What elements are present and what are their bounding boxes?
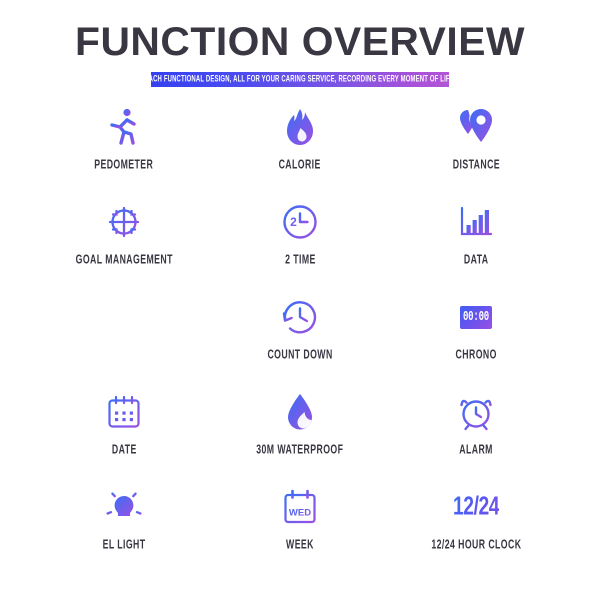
chrono-screen: 00:00 <box>460 306 492 329</box>
feature-label: 2 TIME <box>285 251 316 267</box>
feature-label: ALARM <box>459 441 493 457</box>
feature-item-week[interactable]: WED WEEK <box>212 484 388 579</box>
calendar-icon <box>101 389 147 435</box>
running-person-icon <box>101 104 147 150</box>
bar-chart-icon <box>453 199 499 245</box>
feature-item-calorie[interactable]: CALORIE <box>212 104 388 199</box>
hour-format-text: 12/24 <box>453 492 499 522</box>
feature-item-count-down[interactable]: COUNT DOWN <box>212 294 388 389</box>
flame-icon <box>277 104 323 150</box>
feature-item-alarm[interactable]: ALARM <box>388 389 564 484</box>
dual-time-clock-icon: 2 <box>277 199 323 245</box>
feature-label: 12/24 HOUR CLOCK <box>431 536 521 552</box>
feature-item-hour-clock[interactable]: 12/24 12/24 HOUR CLOCK <box>388 484 564 579</box>
feature-label: PEDOMETER <box>95 156 154 172</box>
feature-item-distance[interactable]: DISTANCE <box>388 104 564 199</box>
alarm-clock-icon <box>453 389 499 435</box>
feature-label: 30M WATERPROOF <box>256 441 343 457</box>
feature-item-el-light[interactable]: EL LIGHT <box>36 484 212 579</box>
feature-label: DISTANCE <box>452 156 499 172</box>
feature-label: GOAL MANAGEMENT <box>75 251 172 267</box>
function-overview-page: FUNCTION OVERVIEW EACH FUNCTIONAL DESIGN… <box>0 0 600 600</box>
feature-label: CALORIE <box>279 156 321 172</box>
feature-label: DATE <box>112 441 137 457</box>
weekday-calendar-icon: WED <box>277 484 323 530</box>
page-header: FUNCTION OVERVIEW EACH FUNCTIONAL DESIGN… <box>0 0 600 87</box>
subtitle-text: EACH FUNCTIONAL DESIGN, ALL FOR YOUR CAR… <box>144 74 455 84</box>
chrono-digits: 00:00 <box>463 310 489 325</box>
feature-label: WEEK <box>286 536 314 552</box>
weekday-abbrev: WED <box>289 508 311 519</box>
feature-item-waterproof[interactable]: 30M WATERPROOF <box>212 389 388 484</box>
feature-item-2-time[interactable]: 2 2 TIME <box>212 199 388 294</box>
countdown-clock-icon <box>277 294 323 340</box>
feature-item-data[interactable]: DATA <box>388 199 564 294</box>
digital-display-icon: 00:00 <box>453 294 499 340</box>
feature-item-goal-management[interactable]: GOAL MANAGEMENT <box>36 199 212 294</box>
feature-label: COUNT DOWN <box>267 346 332 362</box>
location-pin-icon <box>453 104 499 150</box>
lightbulb-icon <box>101 484 147 530</box>
feature-label: CHRONO <box>455 346 496 362</box>
page-title: FUNCTION OVERVIEW <box>0 22 600 62</box>
target-crosshair-icon <box>101 199 147 245</box>
feature-label: EL LIGHT <box>103 536 146 552</box>
feature-item-pedometer[interactable]: PEDOMETER <box>36 104 212 199</box>
subtitle-banner: EACH FUNCTIONAL DESIGN, ALL FOR YOUR CAR… <box>151 72 449 87</box>
feature-item-date[interactable]: DATE <box>36 389 212 484</box>
feature-grid: PEDOMETER CALORIE <box>0 104 600 579</box>
feature-label: DATA <box>464 251 489 267</box>
feature-item-chrono[interactable]: 00:00 CHRONO <box>388 294 564 389</box>
dual-time-number: 2 <box>290 215 297 229</box>
water-drop-icon <box>277 389 323 435</box>
twelve-twentyfour-text-icon: 12/24 <box>453 484 499 530</box>
